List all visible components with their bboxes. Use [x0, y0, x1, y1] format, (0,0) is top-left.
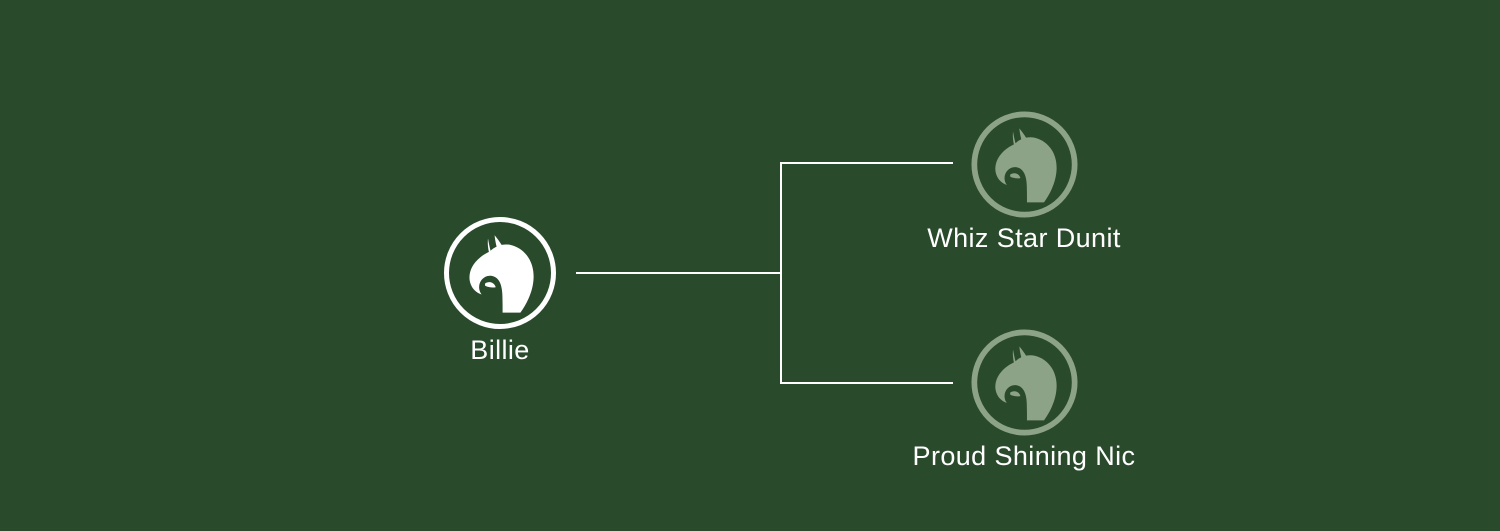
pedigree-node-subject[interactable]: Billie — [350, 217, 650, 366]
pedigree-node-parent-dam[interactable]: Proud Shining Nic — [834, 329, 1214, 472]
pedigree-node-label: Proud Shining Nic — [913, 441, 1136, 472]
connector-lines — [0, 0, 1500, 531]
pedigree-node-label: Billie — [470, 335, 529, 366]
horse-head-circle-icon[interactable] — [444, 217, 556, 329]
pedigree-diagram: Billie Whiz Star Dunit Proud Shining Nic — [0, 0, 1500, 531]
pedigree-node-label: Whiz Star Dunit — [927, 223, 1121, 254]
pedigree-node-parent-sire[interactable]: Whiz Star Dunit — [834, 111, 1214, 254]
horse-head-circle-icon[interactable] — [971, 111, 1078, 218]
horse-head-circle-icon[interactable] — [971, 329, 1078, 436]
